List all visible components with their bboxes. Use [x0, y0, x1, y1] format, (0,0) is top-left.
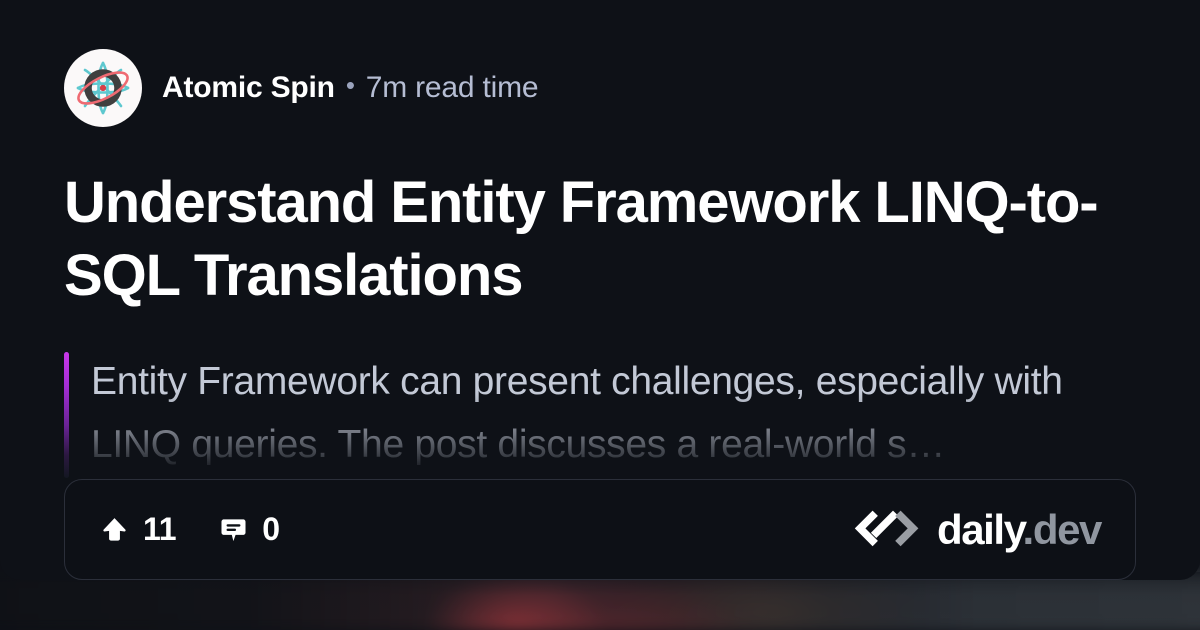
- engagement-bar: 11 0: [64, 479, 1136, 580]
- post-title: Understand Entity Framework LINQ-to-SQL …: [64, 166, 1104, 312]
- source-name[interactable]: Atomic Spin: [162, 71, 335, 105]
- avatar: [64, 49, 142, 127]
- brand-wordmark: daily.dev: [937, 509, 1101, 551]
- post-description: Entity Framework can present challenges,…: [91, 350, 1136, 476]
- read-time-label: 7m read time: [366, 71, 539, 105]
- post-preview-card: Atomic Spin • 7m read time Understand En…: [0, 0, 1200, 630]
- daily-dev-logo-icon: [848, 508, 920, 552]
- upvote-count: 11: [143, 511, 176, 548]
- upvote-arrow-icon: [99, 514, 130, 545]
- meta-separator: •: [346, 72, 355, 98]
- cover-image-overlay: [0, 572, 1200, 630]
- upvote-stat[interactable]: 11: [99, 511, 176, 548]
- daily-dev-brand[interactable]: daily.dev: [848, 508, 1101, 552]
- source-meta: Atomic Spin • 7m read time: [162, 71, 538, 105]
- comment-stat[interactable]: 0: [218, 511, 280, 548]
- comment-count: 0: [262, 511, 280, 548]
- stats-group: 11 0: [99, 511, 280, 548]
- comment-bubble-icon: [218, 514, 249, 545]
- source-row: Atomic Spin • 7m read time: [64, 48, 1136, 128]
- brand-tld: .dev: [1023, 506, 1101, 553]
- accent-bar: [64, 352, 69, 478]
- brand-name: daily: [937, 506, 1023, 553]
- atom-icon: [72, 57, 134, 119]
- post-description-block: Entity Framework can present challenges,…: [64, 350, 1136, 478]
